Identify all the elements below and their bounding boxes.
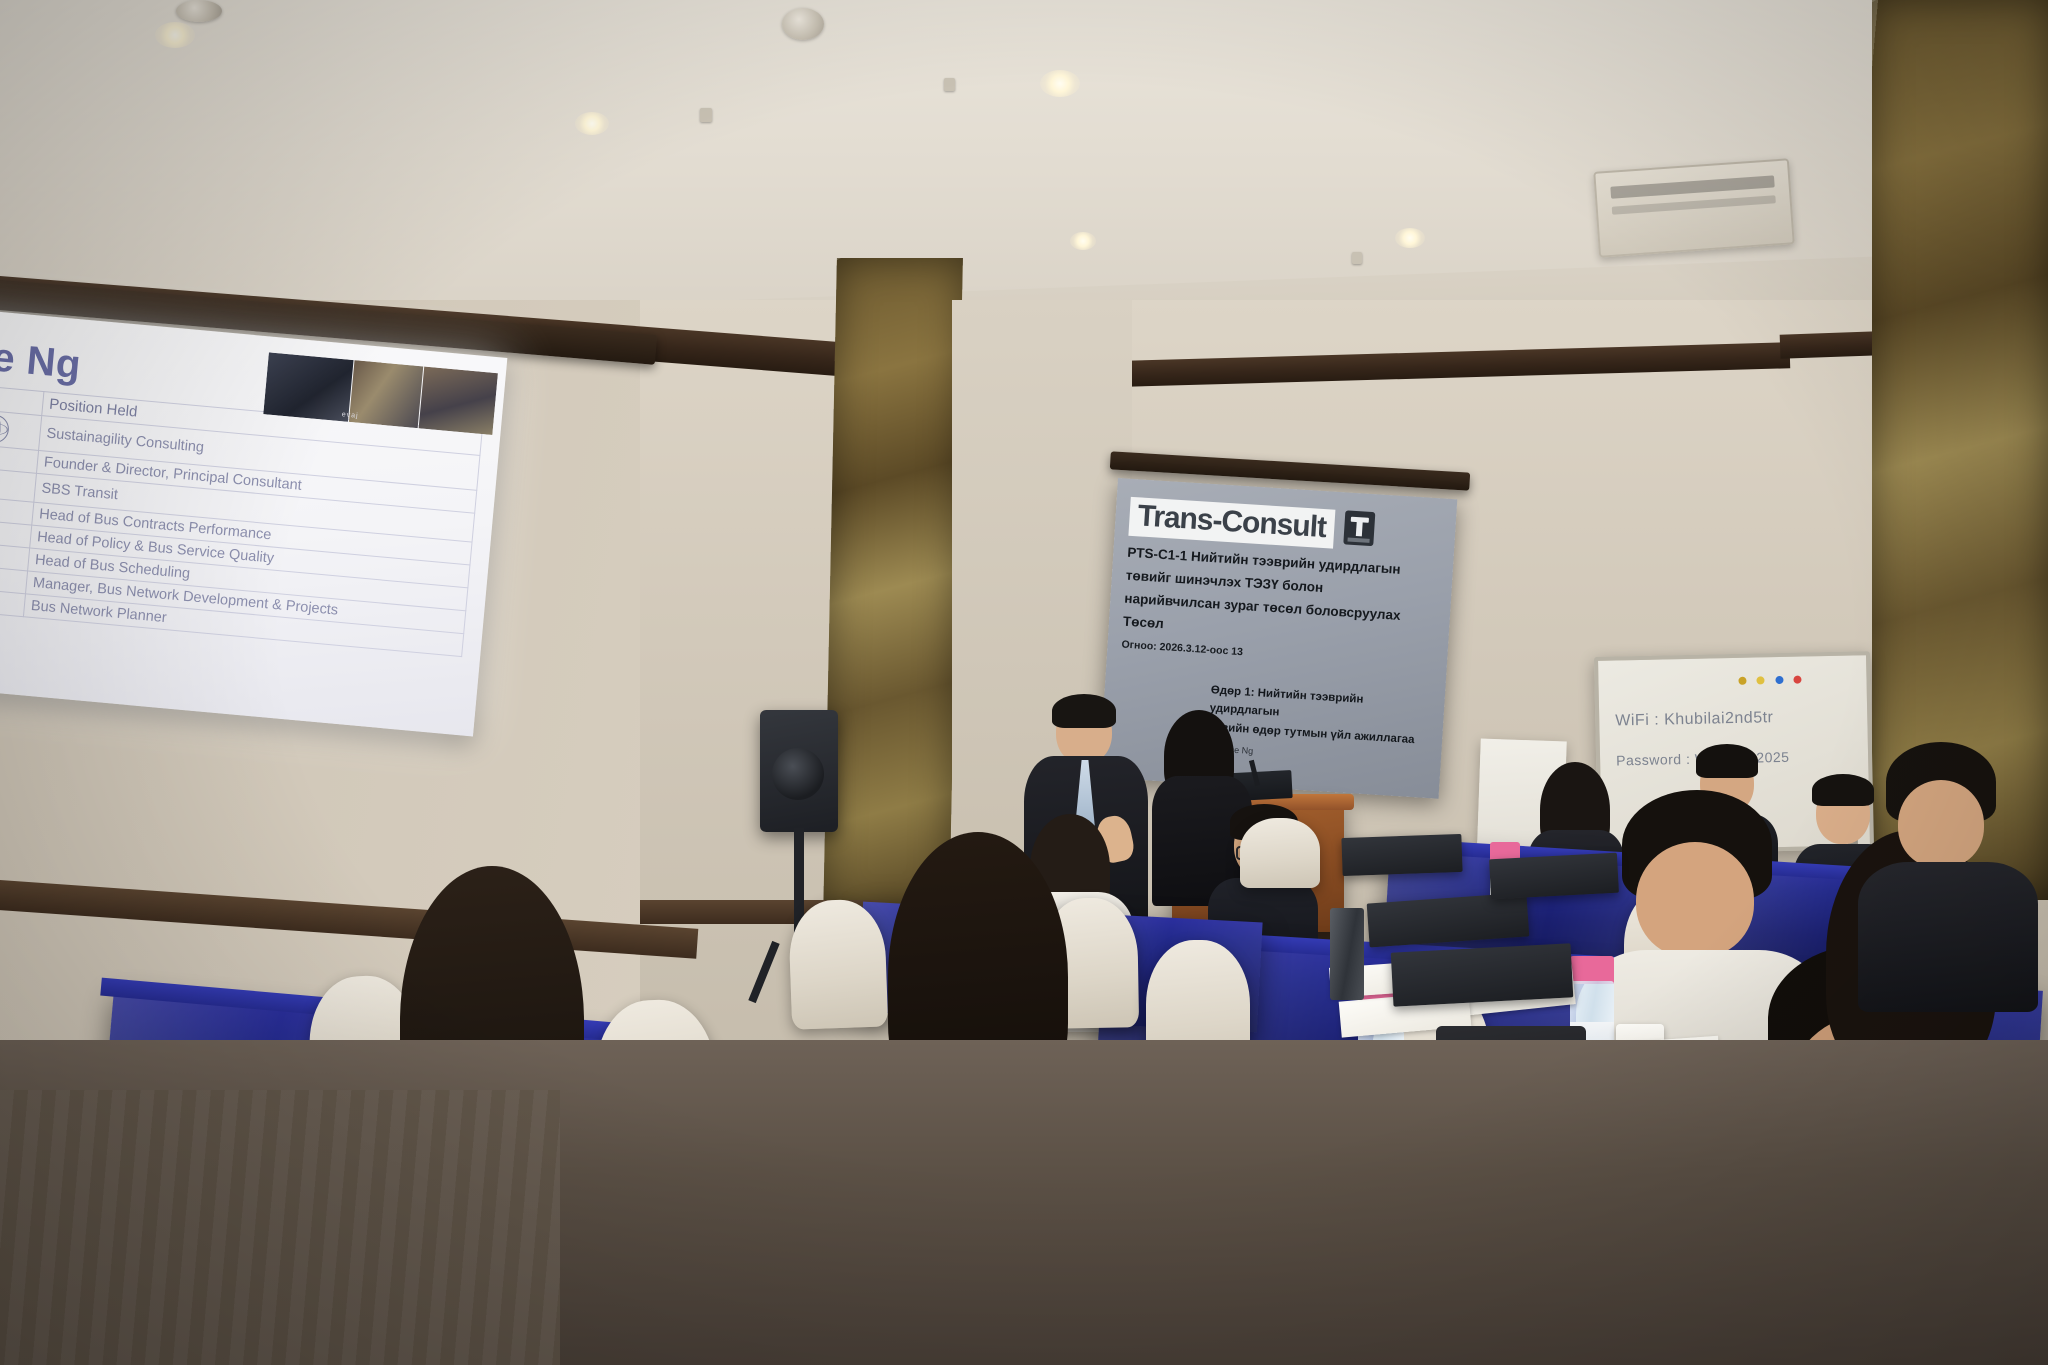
magnet-row [1738,670,1808,689]
travel-tumbler[interactable] [1330,908,1364,1000]
sprinkler-icon [944,78,955,91]
magnet-icon [1738,677,1746,685]
head [1636,842,1754,958]
downlight [1070,232,1096,250]
chair[interactable] [788,898,888,1029]
globe-icon [0,414,10,444]
downlight [1040,70,1080,97]
downlight [575,112,609,135]
magnet-icon [1757,676,1765,684]
trans-consult-logo: Trans-Consult [1128,497,1335,549]
downlight [155,22,195,48]
photo-strip-label: evaj [341,411,358,419]
conference-room-photo: erence Ng evaj ployer / Year Position He… [0,0,2048,1365]
trans-consult-mark-icon [1343,510,1375,546]
brand-text: Trans-Consult [1137,499,1327,544]
magnet-icon [1775,676,1783,684]
downlight [1395,228,1425,248]
ac-cassette-unit [1593,158,1795,257]
laptop[interactable] [1489,853,1619,900]
mark-cap [1347,538,1369,543]
carpet [0,1090,560,1365]
magnet-icon [1794,676,1802,684]
smoke-detector-icon [782,8,824,40]
speaker-cone-icon [772,748,824,800]
presenter-hair [1052,694,1116,728]
whiteboard-wifi-line: WiFi : Khubilai2nd5tr [1615,709,1773,730]
laptop[interactable] [1391,943,1574,1006]
sprinkler-icon [1352,252,1362,264]
sprinkler-icon [700,108,712,122]
bottle-cap [1570,956,1614,984]
projection-screen-right: Trans-Consult PTS-C1-1 Нийтийн тээврийн … [1099,478,1457,799]
projection-screen-left: erence Ng evaj ployer / Year Position He… [0,300,507,736]
head [1898,780,1984,868]
smoke-detector-icon [176,0,222,22]
marble-column [823,258,963,918]
torso [1858,862,2038,1012]
chair[interactable] [1240,818,1320,888]
laptop[interactable] [1341,834,1462,876]
